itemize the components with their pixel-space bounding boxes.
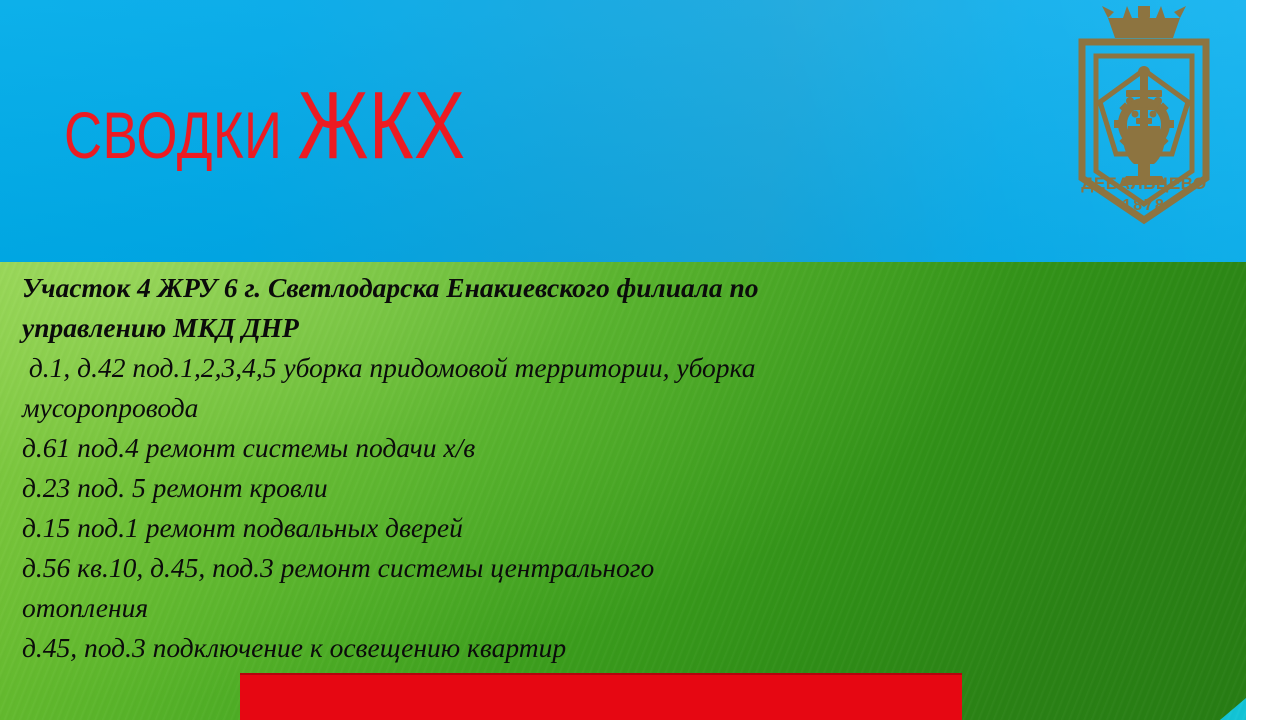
body-line: управлению МКД ДНР (22, 308, 960, 348)
body-line: д.15 под.1 ремонт подвальных дверей (22, 508, 960, 548)
emblem-year-label: 1878 (1122, 197, 1166, 214)
emblem-city-label: ДЕБАЛЬЦЕВО (1081, 174, 1207, 193)
body-line: д.56 кв.10, д.45, под.3 ремонт системы ц… (22, 548, 960, 588)
body-line: д.23 под. 5 ремонт кровли (22, 468, 960, 508)
page-title-small: Сводки (64, 98, 282, 172)
body-line: отопления (22, 588, 960, 628)
body-line: мусоропровода (22, 388, 960, 428)
body-line: д.1, д.42 под.1,2,3,4,5 уборка придомово… (22, 348, 960, 388)
bottom-red-banner (240, 673, 962, 720)
debaltsevo-emblem-icon: ДЕБАЛЬЦЕВО 1878 (1060, 6, 1228, 251)
corner-cyan-sliver (1220, 698, 1246, 720)
body-line: Участок 4 ЖРУ 6 г. Светлодарска Енакиевс… (22, 268, 960, 308)
page-title: Сводки ЖКХ (64, 78, 466, 174)
page-title-large: ЖКХ (297, 72, 465, 179)
slide-canvas: Сводки ЖКХ (0, 0, 1280, 720)
body-line: д.61 под.4 ремонт системы подачи х/в (22, 428, 960, 468)
body-line: д.45, под.3 подключение к освещению квар… (22, 628, 960, 668)
body-copy: Участок 4 ЖРУ 6 г. Светлодарска Енакиевс… (0, 268, 960, 668)
page-title-space (282, 98, 297, 172)
right-white-margin (1246, 0, 1280, 720)
